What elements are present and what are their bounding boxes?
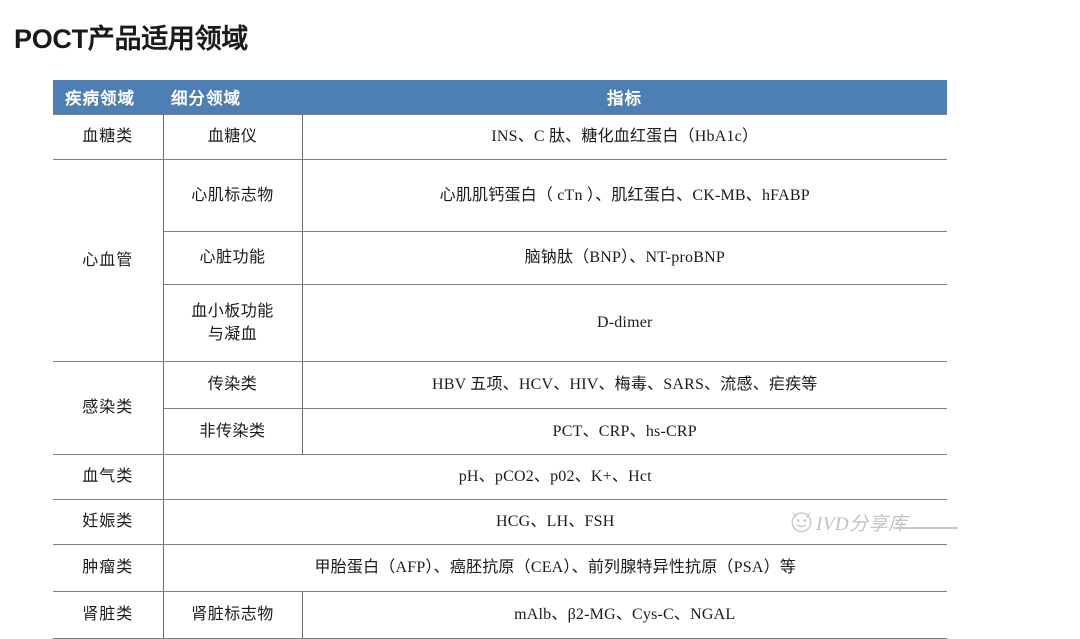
table-row: 妊娠类 HCG、LH、FSH	[53, 500, 947, 545]
cell-indicator-tumor: 甲胎蛋白（AFP）、癌胚抗原（CEA）、前列腺特异性抗原（PSA）等	[163, 545, 947, 592]
cell-indicator-kidney: mAlb、β2-MG、Cys-C、NGAL	[302, 592, 947, 639]
table-row: 血糖类 血糖仪 INS、C 肽、糖化血红蛋白（HbA1c）	[53, 115, 947, 160]
cell-indicator-contagious: HBV 五项、HCV、HIV、梅毒、SARS、流感、疟疾等	[302, 362, 947, 409]
cell-indicator-cardiac-function: 脑钠肽（BNP）、NT-proBNP	[302, 232, 947, 285]
cell-subfield-kidney-markers: 肾脏标志物	[163, 592, 302, 639]
table-row: 心脏功能 脑钠肽（BNP）、NT-proBNP	[53, 232, 947, 285]
table-row: 肿瘤类 甲胎蛋白（AFP）、癌胚抗原（CEA）、前列腺特异性抗原（PSA）等	[53, 545, 947, 592]
poct-table: 疾病领域 细分领域 指标 血糖类 血糖仪 INS、C 肽、糖化血红蛋白（HbA1…	[53, 80, 947, 639]
table-row: 感染类 传染类 HBV 五项、HCV、HIV、梅毒、SARS、流感、疟疾等	[53, 362, 947, 409]
table-row: 心血管 心肌标志物 心肌肌钙蛋白（ cTn ）、肌红蛋白、CK-MB、hFABP	[53, 160, 947, 232]
cell-indicator-non-contagious: PCT、CRP、hs-CRP	[302, 409, 947, 455]
cell-category-infection: 感染类	[53, 362, 163, 455]
cell-category-glucose: 血糖类	[53, 115, 163, 160]
slide-canvas: POCT产品适用领域 疾病领域 细分领域 指标 血糖类 血糖仪 INS、C 肽、…	[0, 0, 1080, 608]
cell-indicator-pregnancy: HCG、LH、FSH	[163, 500, 947, 545]
table-body: 血糖类 血糖仪 INS、C 肽、糖化血红蛋白（HbA1c） 心血管 心肌标志物 …	[53, 115, 947, 639]
table-header: 疾病领域 细分领域 指标	[53, 80, 947, 115]
cell-category-tumor: 肿瘤类	[53, 545, 163, 592]
cell-subfield-contagious: 传染类	[163, 362, 302, 409]
table-row: 非传染类 PCT、CRP、hs-CRP	[53, 409, 947, 455]
cell-subfield-non-contagious: 非传染类	[163, 409, 302, 455]
cell-indicator-cardiac-markers: 心肌肌钙蛋白（ cTn ）、肌红蛋白、CK-MB、hFABP	[302, 160, 947, 232]
table-row: 血小板功能 与凝血 D-dimer	[53, 285, 947, 362]
page-title: POCT产品适用领域	[14, 17, 248, 56]
cell-category-cardiovascular: 心血管	[53, 160, 163, 362]
cell-subfield-cardiac-markers: 心肌标志物	[163, 160, 302, 232]
table-row: 肾脏类 肾脏标志物 mAlb、β2-MG、Cys-C、NGAL	[53, 592, 947, 639]
subfield-line-2: 与凝血	[169, 323, 297, 346]
cell-category-kidney: 肾脏类	[53, 592, 163, 639]
poct-table-container: 疾病领域 细分领域 指标 血糖类 血糖仪 INS、C 肽、糖化血红蛋白（HbA1…	[53, 80, 947, 639]
cell-category-blood-gas: 血气类	[53, 455, 163, 500]
table-header-row: 疾病领域 细分领域 指标	[53, 80, 947, 115]
cell-subfield-platelet-coagulation: 血小板功能 与凝血	[163, 285, 302, 362]
cell-category-pregnancy: 妊娠类	[53, 500, 163, 545]
subfield-line-1: 血小板功能	[169, 300, 297, 323]
cell-indicator-blood-gas: pH、pCO2、p02、K+、Hct	[163, 455, 947, 500]
column-header-indicator: 指标	[302, 80, 947, 115]
column-header-subfield: 细分领域	[163, 80, 302, 115]
table-row: 血气类 pH、pCO2、p02、K+、Hct	[53, 455, 947, 500]
column-header-disease-area: 疾病领域	[53, 80, 163, 115]
cell-subfield-cardiac-function: 心脏功能	[163, 232, 302, 285]
cell-subfield-glucometer: 血糖仪	[163, 115, 302, 160]
cell-indicator-glucose: INS、C 肽、糖化血红蛋白（HbA1c）	[302, 115, 947, 160]
cell-indicator-d-dimer: D-dimer	[302, 285, 947, 362]
